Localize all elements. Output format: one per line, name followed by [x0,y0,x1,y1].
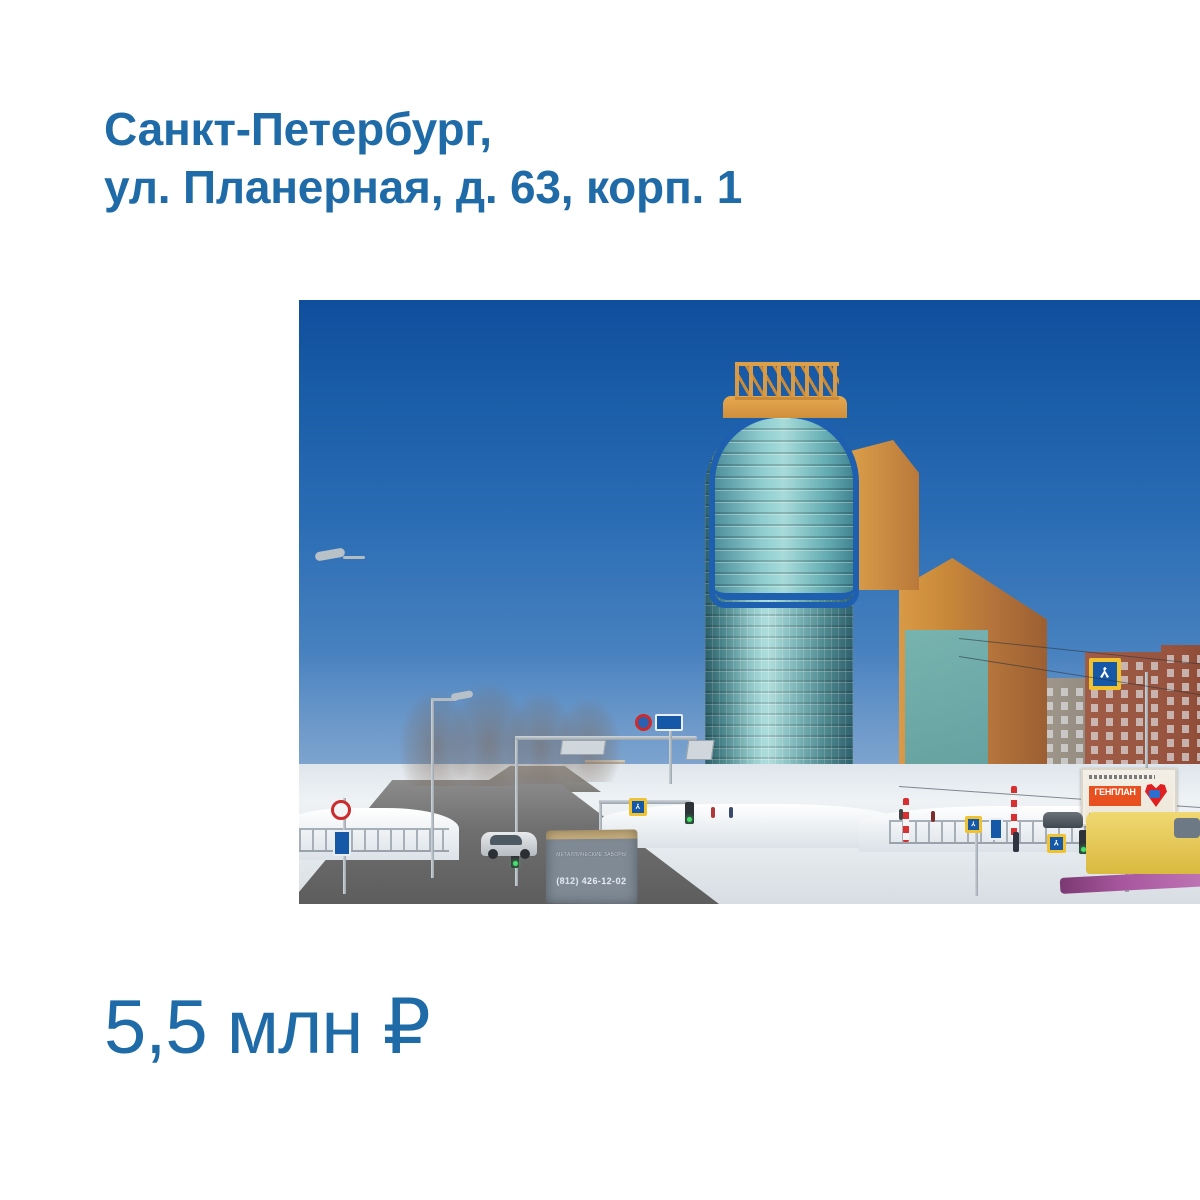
no-parking-sign [635,714,652,731]
tarp-truck: МЕТАЛЛИЧЕСКИЕ ЗАБОРЫ (812) 426-12-02 [546,829,638,904]
tower-upper-drum [713,418,855,600]
pedestrian [1013,832,1019,852]
no-entry-sign [331,800,351,820]
lane-direction-sign [655,714,683,731]
billboard-top-text [1089,775,1155,779]
silver-car [481,832,537,856]
car-wheel [488,849,498,859]
truck-phone-number: (812) 426-12-02 [546,876,638,886]
pedestrian-crossing-sign [629,798,647,816]
striped-bollard [903,798,909,842]
information-sign [989,818,1003,840]
pedestrian-crossing-sign [965,816,982,833]
traffic-light [685,802,694,824]
drum-floor-bands [713,418,855,593]
pedestrian [711,807,715,818]
pedestrian [899,809,903,820]
lamp-pole [431,698,434,878]
listing-card: Санкт-Петербург, ул. Планерная, д. 63, к… [0,0,1200,1200]
traffic-light-green [513,861,518,866]
parked-car [1043,812,1083,828]
page-title: Санкт-Петербург, ул. Планерная, д. 63, к… [104,100,1104,216]
title-line-address: ул. Планерная, д. 63, корп. 1 [104,158,1104,216]
price-block: 5,5 млн ₽ [104,985,1104,1071]
pedestrian [729,807,733,818]
building-upper-shoulder [847,440,919,590]
building-photo: ГЕНПЛАН LEOWALL МЕТАЛЛИЧЕСКИЕ ЗАБОРЫ (81… [299,300,1200,904]
traffic-signal-housing [686,740,715,760]
price-value: 5,5 млн ₽ [104,985,1104,1071]
street-lamp-arm [343,556,365,559]
car-wheel [520,849,530,859]
billboard-headline: ГЕНПЛАН [1089,786,1141,806]
pedestrian-crossing-sign [1089,658,1121,690]
truck-tarp-text: МЕТАЛЛИЧЕСКИЕ ЗАБОРЫ [546,852,638,859]
pedestrian [931,811,935,822]
traffic-light-green [687,817,692,822]
tower-crown-lattice-icon [735,362,839,400]
title-line-city: Санкт-Петербург, [104,100,1104,158]
yellow-van [1086,812,1200,874]
pedestrian-crossing-sign [1047,834,1066,853]
direction-sign-board [560,740,606,755]
information-sign [333,830,351,856]
sidewalk-railing [299,828,449,852]
